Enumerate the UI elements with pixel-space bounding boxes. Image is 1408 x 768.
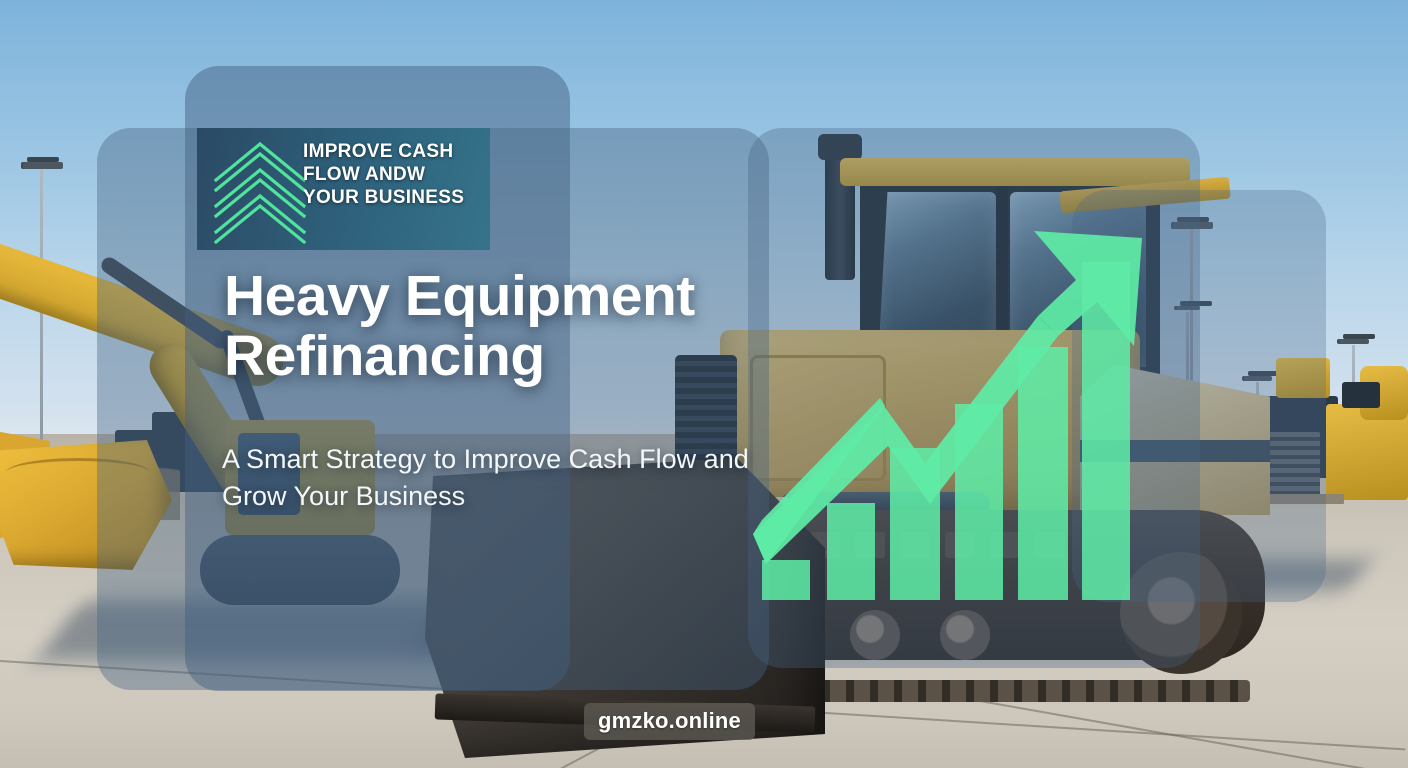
badge-line-2: FLOW ANDW	[303, 163, 488, 186]
growth-chart	[742, 220, 1162, 600]
page-title: Heavy Equipment Refinancing	[224, 266, 784, 387]
page-subtitle: A Smart Strategy to Improve Cash Flow an…	[222, 441, 762, 516]
background-machine	[1342, 382, 1380, 408]
badge-line-1: IMPROVE CASH	[303, 140, 488, 163]
poster-canvas: IMPROVE CASH FLOW ANDW YOUR BUSINESS Hea…	[0, 0, 1408, 768]
triple-chevron-up-icon	[208, 136, 316, 244]
badge-line-3: YOUR BUSINESS	[303, 186, 488, 209]
logo-badge: IMPROVE CASH FLOW ANDW YOUR BUSINESS	[197, 128, 490, 250]
badge-text: IMPROVE CASH FLOW ANDW YOUR BUSINESS	[303, 140, 488, 210]
watermark-badge: gmzko.online	[584, 703, 755, 740]
trend-arrow-icon	[742, 220, 1162, 600]
